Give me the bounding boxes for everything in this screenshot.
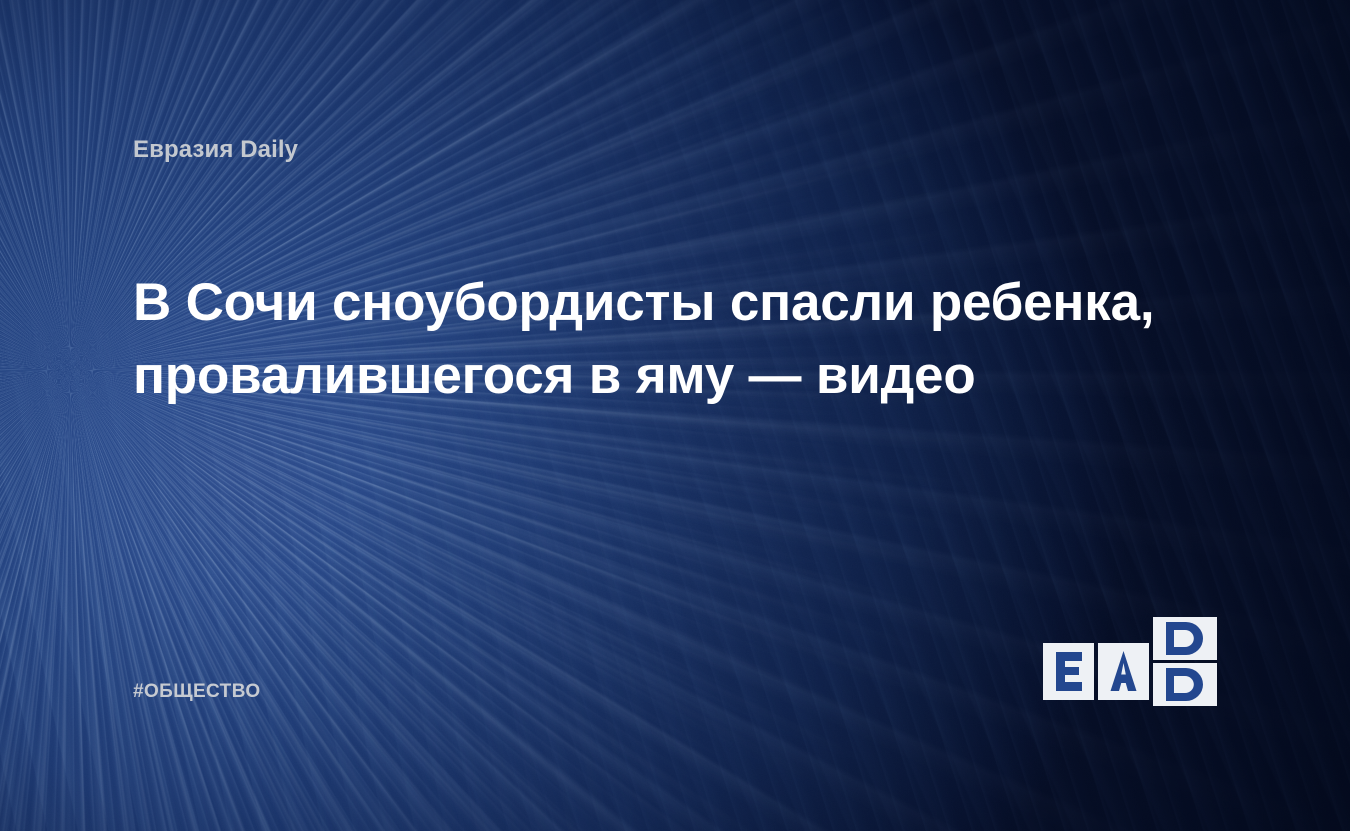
letter-e-icon bbox=[1043, 643, 1094, 700]
logo-tile-d-bottom bbox=[1153, 663, 1217, 706]
logo-tile-d-top bbox=[1153, 617, 1217, 660]
cover-content: Евразия Daily В Сочи сноубордисты спасли… bbox=[0, 0, 1350, 831]
eadaily-logo[interactable] bbox=[1043, 617, 1221, 706]
letter-d-icon bbox=[1153, 663, 1217, 706]
headline: В Сочи сноубордисты спасли ребенка, пров… bbox=[133, 266, 1193, 412]
news-cover-card: Евразия Daily В Сочи сноубордисты спасли… bbox=[0, 0, 1350, 831]
logo-tile-a bbox=[1098, 643, 1149, 700]
logo-tile-e bbox=[1043, 643, 1094, 700]
logo-tile-d-stack bbox=[1153, 617, 1217, 706]
letter-d-icon bbox=[1153, 617, 1217, 660]
category-tag[interactable]: #ОБЩЕСТВО bbox=[133, 681, 261, 703]
letter-a-icon bbox=[1098, 643, 1149, 700]
brand-title: Евразия Daily bbox=[133, 136, 298, 164]
